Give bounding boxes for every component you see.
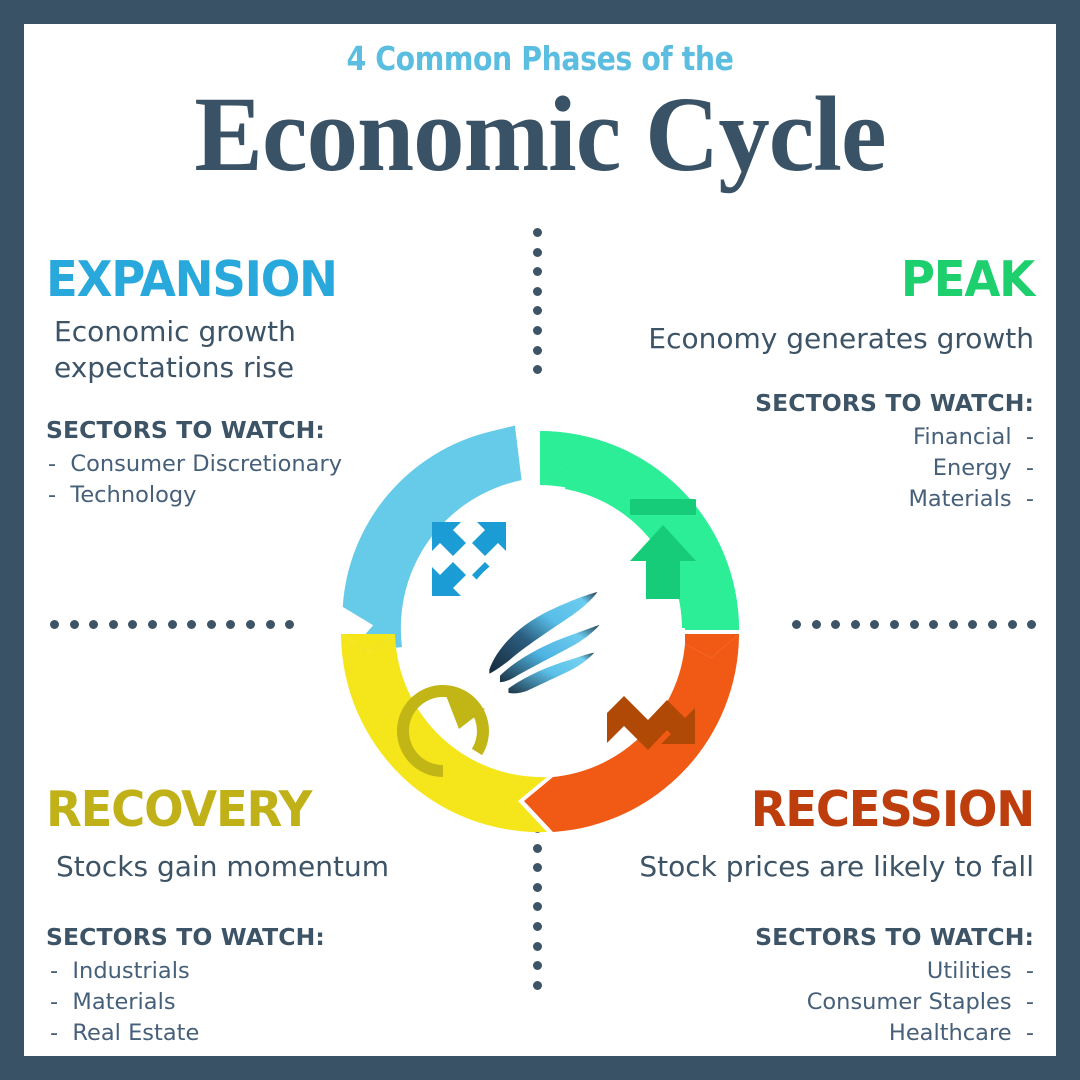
phase-description-line1: Economic growth — [54, 315, 296, 348]
divider-dot — [910, 620, 919, 629]
divider-dot — [890, 620, 899, 629]
sectors-to-watch-label-recovery: SECTORS TO WATCH: — [46, 923, 476, 951]
phase-description-line1: Economy generates growth — [648, 322, 1034, 355]
phase-description-line1: Stocks gain momentum — [56, 850, 389, 883]
phase-title-expansion: EXPANSION — [46, 254, 455, 305]
phase-description-line2: expectations rise — [54, 350, 476, 386]
divider-dot — [870, 620, 879, 629]
divider-dot — [968, 620, 977, 629]
sector-item: Consumer Staples - — [604, 987, 1034, 1018]
sector-item: Healthcare - — [604, 1018, 1034, 1049]
divider-dot — [929, 620, 938, 629]
divider-dot — [988, 620, 997, 629]
divider-dot — [1027, 620, 1036, 629]
phase-description-line1: Stock prices are likely to fall — [639, 850, 1034, 883]
economic-cycle-wheel — [325, 415, 755, 845]
sector-item: - Materials — [50, 987, 476, 1018]
sector-item: Utilities - — [604, 956, 1034, 987]
divider-dot — [831, 620, 840, 629]
phase-description-peak: Economy generates growth — [604, 321, 1034, 357]
divider-dot — [949, 620, 958, 629]
sector-item: - Industrials — [50, 956, 476, 987]
divider-dot — [1008, 620, 1017, 629]
sectors-to-watch-label-recession: SECTORS TO WATCH: — [604, 923, 1034, 951]
phase-description-recession: Stock prices are likely to fall — [604, 849, 1034, 885]
sector-item: - Real Estate — [50, 1018, 476, 1049]
divider-dot — [792, 620, 801, 629]
sector-list-recovery: - Industrials - Materials - Real Estate — [50, 956, 476, 1048]
phase-title-peak: PEAK — [626, 254, 1035, 305]
divider-dot — [812, 620, 821, 629]
phase-description-recovery: Stocks gain momentum — [56, 849, 476, 885]
poster-frame: 4 Common Phases of the Economic Cycle EX… — [0, 0, 1080, 1080]
poster-canvas: 4 Common Phases of the Economic Cycle EX… — [24, 24, 1056, 1056]
sectors-to-watch-label-peak: SECTORS TO WATCH: — [604, 389, 1034, 417]
phase-description-expansion: Economic growth expectations rise — [54, 314, 476, 386]
divider-dot — [851, 620, 860, 629]
sector-list-recession: Utilities - Consumer Staples - Healthcar… — [604, 956, 1034, 1048]
